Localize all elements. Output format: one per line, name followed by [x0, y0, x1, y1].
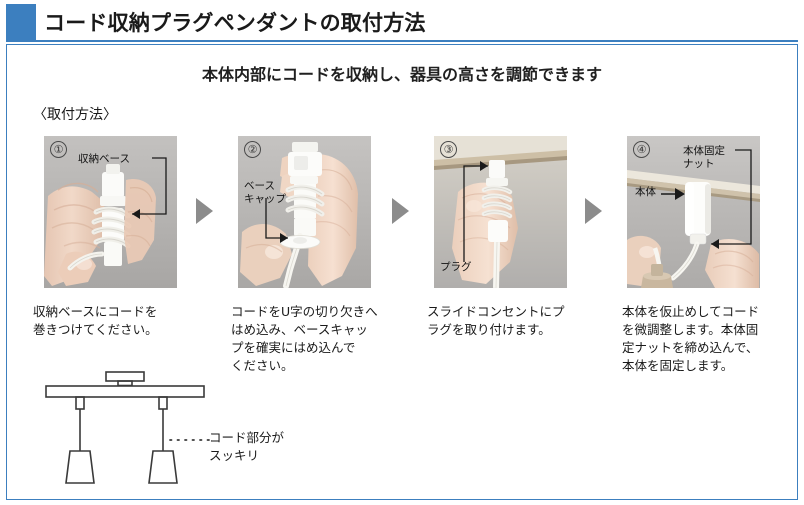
- step-photo-1: ① 収納ベース: [44, 136, 177, 288]
- callout-plug: プラグ: [440, 261, 472, 273]
- step-caption-3: スライドコンセントにプ ラグを取り付けます。: [427, 303, 579, 339]
- step-number-1: ①: [50, 141, 67, 158]
- step-photo-2: ② ベース キャップ: [238, 136, 371, 288]
- callout-base-cap: ベース キャップ: [244, 180, 286, 206]
- callout-body: 本体: [635, 186, 656, 198]
- step-photo-3: ③ プラグ: [434, 136, 567, 288]
- subtitle: 本体内部にコードを収納し、器具の高さを調節できます: [0, 61, 804, 85]
- section-label: 〈取付方法〉: [33, 104, 117, 124]
- step-photo-4: ④ 本体固定 ナット 本体: [627, 136, 760, 288]
- step-number-2: ②: [244, 141, 261, 158]
- callout-storage-base: 収納ベース: [78, 153, 130, 165]
- step-arrow-2-3-icon: [392, 198, 409, 224]
- callout-body-fixing-nut: 本体固定 ナット: [683, 145, 725, 171]
- step-arrow-3-4-icon: [585, 198, 602, 224]
- page-root: コード収納プラグペンダントの取付方法 本体内部にコードを収納し、器具の高さを調節…: [0, 0, 804, 505]
- step-caption-4: 本体を仮止めしてコード を微調整します。本体固 定ナットを締め込んで、 本体を固…: [622, 303, 772, 376]
- step-caption-2: コードをU字の切り欠きへ はめ込み、ベースキャッ プを確実にはめ込んで ください…: [231, 303, 383, 376]
- step-caption-1: 収納ベースにコードを 巻きつけてください。: [33, 303, 185, 339]
- bottom-note: コード部分が スッキリ: [209, 429, 284, 464]
- step-arrow-1-2-icon: [196, 198, 213, 224]
- page-title: コード収納プラグペンダントの取付方法: [44, 7, 426, 37]
- step-number-3: ③: [440, 141, 457, 158]
- step-number-4: ④: [633, 141, 650, 158]
- header-accent-bar: [6, 4, 36, 42]
